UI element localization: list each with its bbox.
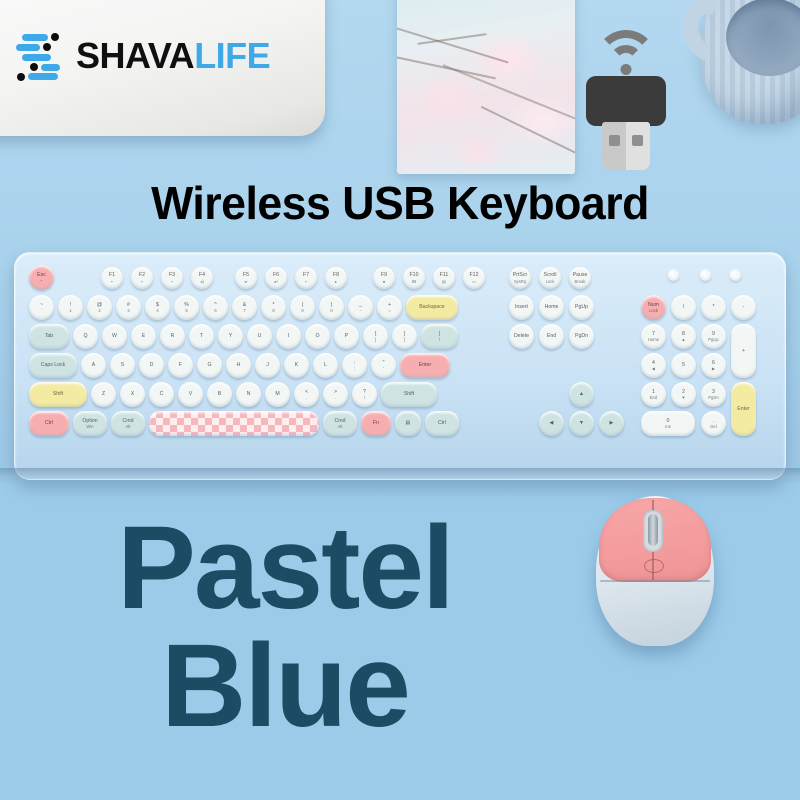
key-r[interactable]: R: [160, 324, 185, 349]
key-o[interactable]: O: [305, 324, 330, 349]
key-f6[interactable]: F6◂+: [265, 267, 287, 289]
brand-wordmark: SHAVALIFE: [76, 38, 270, 74]
indicator-led-1: [667, 269, 680, 282]
ceramic-mug-prop: [700, 0, 800, 124]
usb-wireless-dongle-icon: [578, 30, 674, 170]
key-w[interactable]: W: [102, 324, 127, 349]
key-tab[interactable]: Tab: [29, 324, 69, 349]
key-f9[interactable]: F9●: [373, 267, 395, 289]
key-p[interactable]: P: [334, 324, 359, 349]
key--[interactable]: :;: [342, 353, 367, 378]
key-y[interactable]: Y: [218, 324, 243, 349]
key--[interactable]: <,: [294, 382, 319, 407]
key-f5[interactable]: F5◂-: [235, 267, 257, 289]
key-f12[interactable]: F12▭: [463, 267, 485, 289]
key-prtscr[interactable]: PrtScrSysRq: [509, 267, 531, 289]
key--[interactable]: (9: [290, 295, 315, 320]
key-numpad-minus[interactable]: -: [731, 295, 756, 320]
indicator-led-2: [699, 269, 712, 282]
key--[interactable]: !1: [58, 295, 83, 320]
mug-interior: [726, 0, 800, 76]
key-menu[interactable]: ▤: [395, 411, 421, 436]
key--[interactable]: {[: [363, 324, 388, 349]
key-x[interactable]: X: [120, 382, 145, 407]
mouse-scroll-wheel[interactable]: [643, 510, 663, 552]
key-pgup[interactable]: PgUp: [569, 295, 594, 320]
key-numpad-0[interactable]: 0Ins: [641, 411, 695, 436]
key--[interactable]: $4: [145, 295, 170, 320]
key-b[interactable]: B: [207, 382, 232, 407]
brand-logo[interactable]: SHAVALIFE: [16, 32, 270, 80]
key-numpad-7[interactable]: 7Home: [641, 324, 666, 349]
key--[interactable]: %5: [174, 295, 199, 320]
cherry-blossom-poster-prop: [397, 0, 575, 174]
key-k[interactable]: K: [284, 353, 309, 378]
key-f7[interactable]: F7▪: [295, 267, 317, 289]
key--[interactable]: )0: [319, 295, 344, 320]
key-a[interactable]: A: [81, 353, 106, 378]
key-home[interactable]: Home: [539, 295, 564, 320]
key-fn[interactable]: Fn: [361, 411, 391, 436]
mouse-dpi-button[interactable]: [644, 559, 664, 573]
key-ctrl-left[interactable]: Ctrl: [29, 411, 69, 436]
product-banner: SHAVALIFE Wireless USB Keyboard Esc⌁F1▪F…: [0, 0, 800, 800]
key-numpad-enter[interactable]: Enter: [731, 382, 756, 436]
key-c[interactable]: C: [149, 382, 174, 407]
key-cmd-alt-left[interactable]: CmdAlt: [111, 411, 145, 436]
shava-stripes-icon: [16, 32, 62, 80]
key-l[interactable]: L: [313, 353, 338, 378]
desk-edge: [0, 468, 800, 484]
key--[interactable]: &7: [232, 295, 257, 320]
key-g[interactable]: G: [197, 353, 222, 378]
key-numpad-1[interactable]: 1End: [641, 382, 666, 407]
key-i[interactable]: I: [276, 324, 301, 349]
variant-line-1: Pastel: [0, 512, 570, 624]
key-option-win[interactable]: OptionWin: [73, 411, 107, 436]
key-caps-lock[interactable]: Caps Lock: [29, 353, 77, 378]
key-n[interactable]: N: [236, 382, 261, 407]
key--[interactable]: _-: [348, 295, 373, 320]
key-f10[interactable]: F1088: [403, 267, 425, 289]
key-insert[interactable]: Insert: [509, 295, 534, 320]
key-arrow-down[interactable]: ▼: [569, 411, 594, 436]
key-numpad-6[interactable]: 6▶: [701, 353, 726, 378]
key-q[interactable]: Q: [73, 324, 98, 349]
key-v[interactable]: V: [178, 382, 203, 407]
key-f1[interactable]: F1▪: [101, 267, 123, 289]
key--[interactable]: }]: [392, 324, 417, 349]
key-backspace[interactable]: Backspace: [406, 295, 458, 320]
key-delete[interactable]: Delete: [509, 324, 534, 349]
key-enter[interactable]: Enter: [400, 353, 450, 378]
usb-dongle-body: [586, 76, 666, 126]
key-scroll[interactable]: ScrollLock: [539, 267, 561, 289]
key-pause[interactable]: PauseBreak: [569, 267, 591, 289]
key-pgdn[interactable]: PgDn: [569, 324, 594, 349]
key-numpad-9[interactable]: 9PgUp: [701, 324, 726, 349]
key-numpad-decimal[interactable]: .Del: [701, 411, 726, 436]
key--[interactable]: *8: [261, 295, 286, 320]
key-f[interactable]: F: [168, 353, 193, 378]
page-title: Wireless USB Keyboard: [12, 176, 788, 230]
brand-wordmark-secondary: LIFE: [194, 35, 270, 76]
key-numpad-divide[interactable]: /: [671, 295, 696, 320]
indicator-led-3: [729, 269, 742, 282]
key-num-lock[interactable]: NumLock: [641, 295, 666, 320]
key-end[interactable]: End: [539, 324, 564, 349]
key--[interactable]: ?/: [352, 382, 377, 407]
key-s[interactable]: S: [110, 353, 135, 378]
key-t[interactable]: T: [189, 324, 214, 349]
keyboard-product[interactable]: Esc⌁F1▪F2▪F3▪F4◂)F5◂-F6◂+F7▪F8▸F9●F1088F…: [14, 252, 786, 480]
key--[interactable]: >.: [323, 382, 348, 407]
key-z[interactable]: Z: [91, 382, 116, 407]
wifi-signal-icon: [594, 30, 658, 72]
key--[interactable]: @2: [87, 295, 112, 320]
key-numpad-2[interactable]: 2▼: [671, 382, 696, 407]
variant-line-2: Blue: [0, 630, 570, 742]
key-shift-left[interactable]: Shift: [29, 382, 87, 407]
usb-connector: [602, 122, 650, 170]
key--[interactable]: #3: [116, 295, 141, 320]
key--[interactable]: ^6: [203, 295, 228, 320]
brand-wordmark-primary: SHAVA: [76, 35, 194, 76]
key--[interactable]: "': [371, 353, 396, 378]
key-f8[interactable]: F8▸: [325, 267, 347, 289]
key-space[interactable]: [149, 411, 319, 436]
key--[interactable]: ~`: [29, 295, 54, 320]
key-ctrl-right[interactable]: Ctrl: [425, 411, 459, 436]
key-shift-right[interactable]: Shift: [381, 382, 437, 407]
key-h[interactable]: H: [226, 353, 251, 378]
key-arrow-right[interactable]: ▶: [599, 411, 624, 436]
key-j[interactable]: J: [255, 353, 280, 378]
key-arrow-up[interactable]: ▲: [569, 382, 594, 407]
key-cmd-alt-right[interactable]: CmdAlt: [323, 411, 357, 436]
key-backslash[interactable]: |\: [421, 324, 458, 349]
key-numpad-5[interactable]: 5: [671, 353, 696, 378]
key-f11[interactable]: F11▤: [433, 267, 455, 289]
key-numpad-8[interactable]: 8▲: [671, 324, 696, 349]
key--[interactable]: +=: [377, 295, 402, 320]
mouse-product[interactable]: [596, 496, 714, 646]
key-arrow-left[interactable]: ◀: [539, 411, 564, 436]
key-m[interactable]: M: [265, 382, 290, 407]
key-u[interactable]: U: [247, 324, 272, 349]
key-f4[interactable]: F4◂): [191, 267, 213, 289]
key-f3[interactable]: F3▪: [161, 267, 183, 289]
mouse-seam: [600, 580, 710, 582]
key-numpad-plus[interactable]: +: [731, 324, 756, 378]
key-d[interactable]: D: [139, 353, 164, 378]
key-numpad-multiply[interactable]: *: [701, 295, 726, 320]
key-numpad-4[interactable]: 4◀: [641, 353, 666, 378]
key-numpad-3[interactable]: 3PgDn: [701, 382, 726, 407]
key-esc[interactable]: Esc⌁: [29, 265, 54, 290]
key-e[interactable]: E: [131, 324, 156, 349]
variant-name: Pastel Blue: [0, 512, 570, 742]
key-f2[interactable]: F2▪: [131, 267, 153, 289]
